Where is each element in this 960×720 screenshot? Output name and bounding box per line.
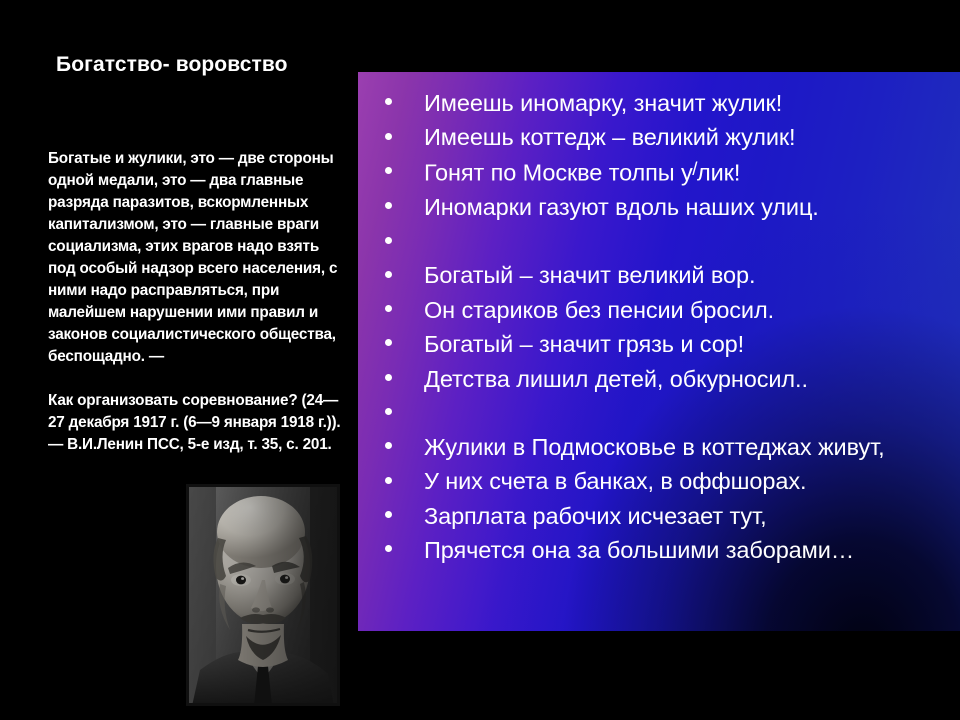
left-text-column: Богатые и жулики, это — две стороны одно… [48, 148, 348, 456]
bullet-item-label: Иномарки газуют вдоль наших улиц. [424, 194, 819, 220]
bullet-item-label: Имеешь иномарку, значит жулик! [424, 90, 782, 116]
bullet-item-label: Зарплата рабочих исчезает тут, [424, 503, 767, 529]
lenin-quote-text: Богатые и жулики, это — две стороны одно… [48, 148, 348, 368]
bullet-item-label-tail: лик! [697, 159, 740, 185]
bullet-dot-icon [385, 511, 392, 518]
bullet-item[interactable]: Богатый – значит грязь и сор! [376, 327, 944, 361]
bullet-item[interactable]: Зарплата рабочих исчезает тут, [376, 499, 944, 533]
bullet-item-label: Богатый – значит великий вор. [424, 262, 755, 288]
bullet-item[interactable]: У них счета в банках, в оффшорах. [376, 464, 944, 498]
bullet-item-label: Имеешь коттедж – великий жулик! [424, 124, 795, 150]
lenin-quote-citation: Как организовать соревнование? (24—27 де… [48, 390, 348, 456]
bullet-dot-icon [385, 98, 392, 105]
bullet-dot-icon [385, 202, 392, 209]
bullet-item-label: Гонят по Москве толпы у [424, 159, 693, 185]
bullet-list: Имеешь иномарку, значит жулик!Имеешь кот… [376, 86, 944, 568]
bullet-item[interactable]: Прячется она за большими заборами… [376, 533, 944, 567]
bullet-item[interactable]: Гонят по Москве толпы у/лик! [376, 155, 944, 190]
lenin-portrait-photo [186, 484, 340, 706]
bullet-dot-icon [385, 133, 392, 140]
bullet-dot-icon [385, 305, 392, 312]
bullet-item-label: Жулики в Подмосковье в коттеджах живут, [424, 434, 885, 460]
presentation-slide: Богатство- воровство Богатые и жулики, э… [0, 0, 960, 720]
bullet-content-panel: Имеешь иномарку, значит жулик!Имеешь кот… [358, 72, 960, 631]
page-title: Богатство- воровство [56, 52, 356, 77]
bullet-item[interactable] [376, 224, 944, 258]
bullet-item[interactable]: Имеешь иномарку, значит жулик! [376, 86, 944, 120]
bullet-item-label: Детства лишил детей, обкурносил.. [424, 366, 808, 392]
bullet-dot-icon [385, 237, 392, 244]
bullet-item[interactable]: Богатый – значит великий вор. [376, 258, 944, 292]
bullet-item[interactable]: Имеешь коттедж – великий жулик! [376, 120, 944, 154]
bullet-dot-icon [385, 339, 392, 346]
bullet-item[interactable]: Иномарки газуют вдоль наших улиц. [376, 190, 944, 224]
bullet-item[interactable]: Жулики в Подмосковье в коттеджах живут, [376, 430, 944, 464]
bullet-dot-icon [385, 408, 392, 415]
bullet-dot-icon [385, 374, 392, 381]
bullet-dot-icon [385, 442, 392, 449]
bullet-item-label: Прячется она за большими заборами… [424, 537, 854, 563]
bullet-dot-icon [385, 477, 392, 484]
bullet-item-label: Богатый – значит грязь и сор! [424, 331, 744, 357]
bullet-item-label: Он стариков без пенсии бросил. [424, 297, 774, 323]
bullet-dot-icon [385, 271, 392, 278]
bullet-item-label: У них счета в банках, в оффшорах. [424, 468, 806, 494]
bullet-item[interactable]: Детства лишил детей, обкурносил.. [376, 362, 944, 396]
bullet-item[interactable] [376, 396, 944, 430]
bullet-dot-icon [385, 167, 392, 174]
bullet-item[interactable]: Он стариков без пенсии бросил. [376, 293, 944, 327]
bullet-dot-icon [385, 545, 392, 552]
